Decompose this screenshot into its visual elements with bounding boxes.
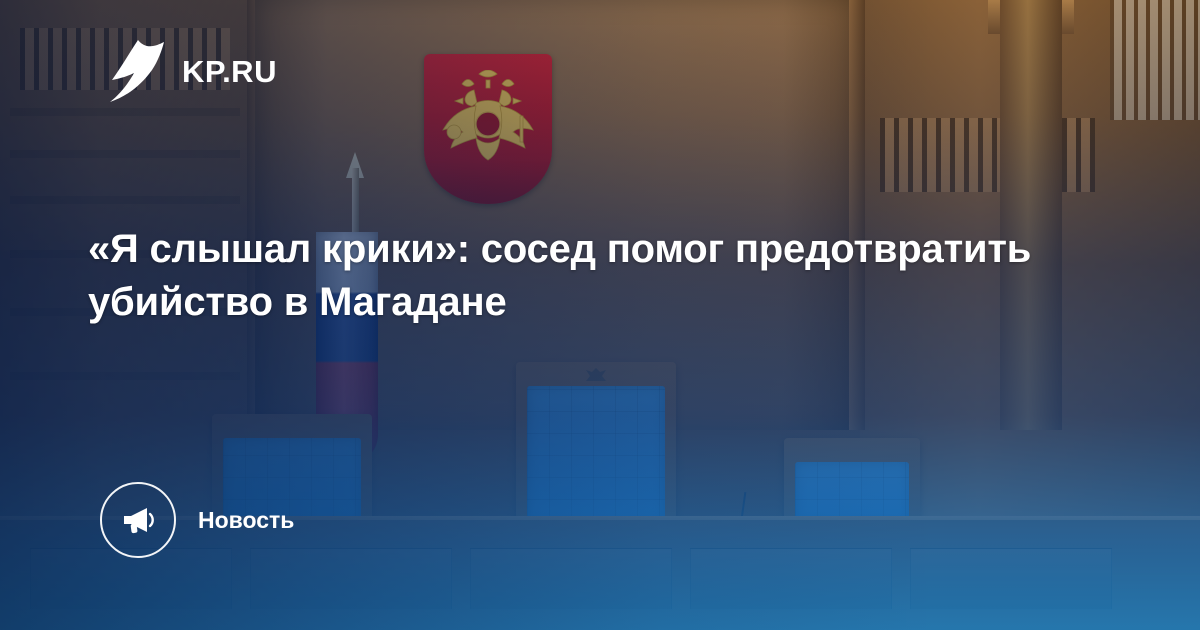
- brand-name: KP.RU: [182, 56, 277, 87]
- megaphone-icon: [121, 505, 155, 535]
- content-type-badge[interactable]: Новость: [100, 482, 294, 558]
- brand-logo[interactable]: KP.RU: [108, 40, 277, 102]
- bird-logo-icon: [108, 40, 164, 102]
- badge-label: Новость: [198, 507, 294, 534]
- megaphone-badge-circle: [100, 482, 176, 558]
- page-title: «Я слышал крики»: сосед помог предотврат…: [88, 223, 1038, 329]
- social-share-card: KP.RU «Я слышал крики»: сосед помог пред…: [0, 0, 1200, 630]
